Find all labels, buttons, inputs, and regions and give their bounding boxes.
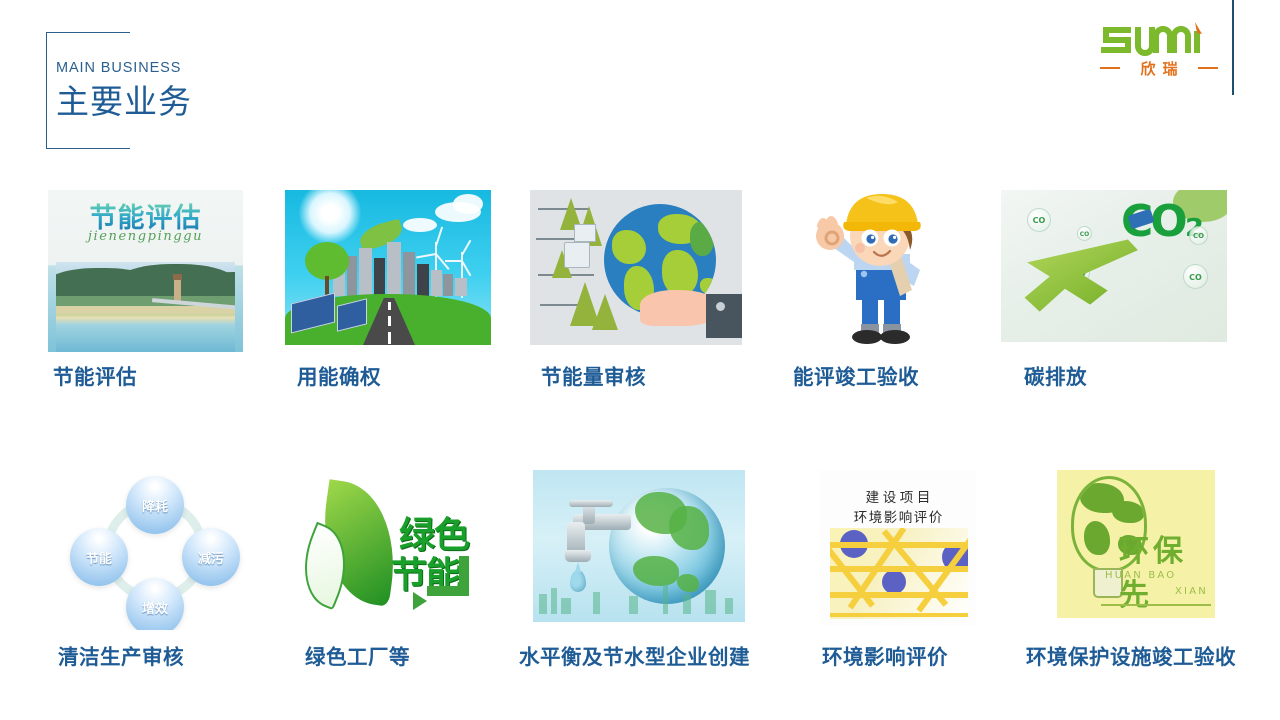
header-divider-rule [1232, 0, 1234, 95]
thumbnail-energy-assessment-acceptance [788, 190, 976, 350]
card-label: 绿色工厂等 [305, 640, 410, 670]
business-card-environmental-protection-acceptance[interactable]: 环保先 HUAN BAO XIAN 环境保护设施竣工验收 [0, 470, 158, 618]
water-drop-icon [570, 570, 586, 592]
logo-rule-right [1198, 67, 1218, 69]
thumbnail-environmental-protection-acceptance: 环保先 HUAN BAO XIAN [1057, 470, 1215, 618]
arrow-cursor-icon [1017, 236, 1143, 324]
card-label: 节能评估 [53, 360, 137, 390]
title-english: MAIN BUSINESS [56, 60, 476, 77]
thumbnail-energy-saving-audit [530, 190, 742, 345]
card-label: 环境影响评价 [822, 640, 948, 670]
page-title: MAIN BUSINESS 主要业务 [56, 60, 476, 123]
logo-wordmark-icon [1098, 20, 1220, 60]
business-card-carbon-emission[interactable]: CO₂ CO CO CO CO CO 碳排放 [0, 190, 226, 342]
company-logo: 欣瑞 [1098, 20, 1220, 82]
poster-pinyin-line2: XIAN [1175, 586, 1208, 597]
title-chinese: 主要业务 [56, 81, 476, 122]
worker-cartoon-icon [788, 190, 976, 350]
poster-pinyin-line1: HUAN BAO [1105, 570, 1176, 581]
card-label: 节能量审核 [541, 360, 646, 390]
book-cover-art [830, 528, 968, 619]
card-label: 环境保护设施竣工验收 [1026, 640, 1236, 670]
card-label: 能评竣工验收 [793, 360, 919, 390]
card-label: 水平衡及节水型企业创建 [519, 640, 750, 670]
thumbnail-water-balance [533, 470, 745, 622]
card-label: 清洁生产审核 [58, 640, 184, 670]
book-title-line1: 建设项目 [820, 486, 976, 506]
solar-panel-icon [564, 242, 590, 268]
card-label: 用能确权 [297, 360, 381, 390]
thumbnail-carbon-emission: CO₂ CO CO CO CO CO [1001, 190, 1227, 342]
thumbnail-green-factory: 绿色 节能 [295, 470, 495, 630]
thumbnail-environmental-impact-assessment: 建设项目 环境影响评价 [820, 470, 976, 625]
thumbnail-energy-use-rights [285, 190, 491, 345]
card-label: 碳排放 [1024, 360, 1087, 390]
book-title-line2: 环境影响评价 [820, 506, 976, 526]
